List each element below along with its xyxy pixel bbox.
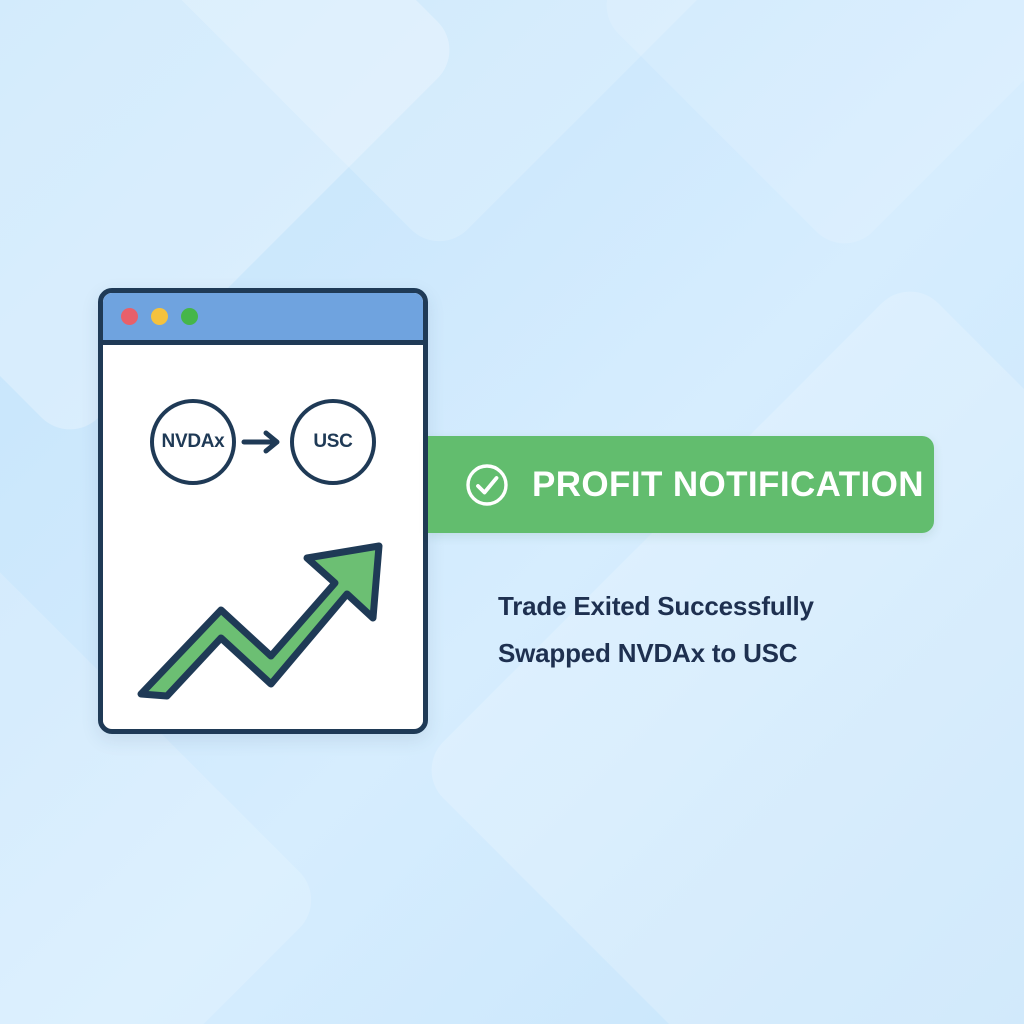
window-titlebar xyxy=(103,293,423,345)
bg-shape-2 xyxy=(142,0,877,258)
to-token-circle: USC xyxy=(290,399,376,485)
from-token-circle: NVDAx xyxy=(150,399,236,485)
token-swap-row: NVDAx USC xyxy=(103,399,423,485)
profit-notification-banner: PROFIT NOTIFICATION xyxy=(428,436,934,533)
bg-shape-4 xyxy=(590,0,1024,260)
subtitle-line-1: Trade Exited Successfully xyxy=(498,583,928,630)
subtitle-block: Trade Exited Successfully Swapped NVDAx … xyxy=(498,583,928,677)
to-token-label: USC xyxy=(313,431,352,453)
banner-title: PROFIT NOTIFICATION xyxy=(532,465,924,505)
window-content: NVDAx USC xyxy=(103,345,423,724)
subtitle-line-2: Swapped NVDAx to USC xyxy=(498,630,928,677)
upward-trend-arrow-icon xyxy=(121,506,411,716)
close-dot-icon[interactable] xyxy=(121,308,138,325)
arrow-right-icon xyxy=(240,422,286,462)
notification-graphic: NVDAx USC xyxy=(0,0,1024,1024)
from-token-label: NVDAx xyxy=(162,431,225,453)
maximize-dot-icon[interactable] xyxy=(181,308,198,325)
check-circle-icon xyxy=(464,462,510,508)
minimize-dot-icon[interactable] xyxy=(151,308,168,325)
browser-window-mock: NVDAx USC xyxy=(98,288,428,734)
